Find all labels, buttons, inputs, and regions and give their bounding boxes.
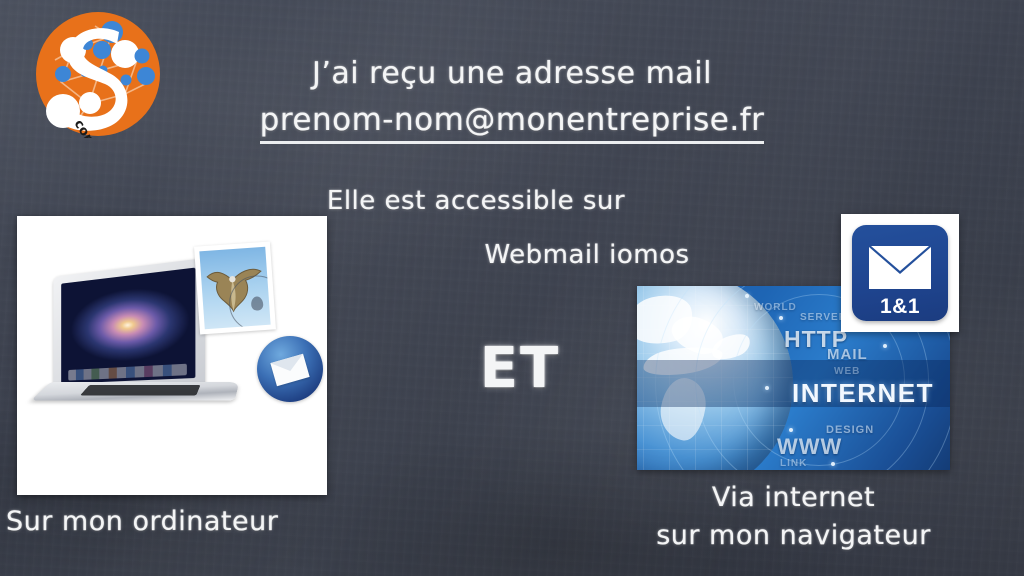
slide-canvas: connect J’ai reçu une adresse mail preno…: [0, 0, 1024, 576]
laptop-keyboard: [80, 385, 200, 396]
laptop-base: [31, 382, 239, 400]
connector-word: ET: [430, 336, 610, 401]
title-line-2: prenom-nom@monentreprise.fr: [0, 102, 1024, 144]
node-dot: [765, 386, 769, 390]
keyword-www: WWW: [777, 434, 842, 460]
keyword-mail: MAIL: [827, 346, 868, 363]
node-dot: [745, 294, 749, 298]
email-address: prenom-nom@monentreprise.fr: [260, 102, 765, 144]
apple-mail-stamp-icon: [194, 241, 276, 334]
keyword-web: WEB: [834, 366, 860, 377]
node-dot: [831, 462, 835, 466]
keyword-world: WORLD: [754, 302, 797, 313]
node-dot: [883, 344, 887, 348]
computer-caption: Sur mon ordinateur: [6, 506, 278, 537]
computer-photo-panel: [17, 216, 327, 495]
title-line-1: J’ai reçu une adresse mail: [0, 56, 1024, 91]
subtitle-line-1: Elle est accessible sur: [0, 186, 1024, 216]
thunderbird-envelope: [270, 354, 309, 386]
node-dot: [789, 428, 793, 432]
one-and-one-tile: 1&1: [852, 225, 948, 321]
keyword-internet: INTERNET: [792, 378, 934, 409]
keyword-link: LINK: [780, 458, 807, 469]
one-and-one-label: 1&1: [852, 295, 948, 319]
envelope-icon: [869, 247, 931, 289]
laptop-lid: [53, 258, 205, 393]
internet-caption-line-1: Via internet: [637, 482, 950, 513]
internet-caption-line-2: sur mon navigateur: [621, 520, 966, 551]
thunderbird-mail-icon: [257, 336, 323, 402]
stamp-sky: [199, 247, 270, 329]
keyword-server: SERVER: [800, 312, 847, 323]
one-and-one-mail-icon: 1&1: [841, 214, 959, 332]
node-dot: [779, 316, 783, 320]
laptop-screen-galaxy-wallpaper: [61, 268, 195, 384]
